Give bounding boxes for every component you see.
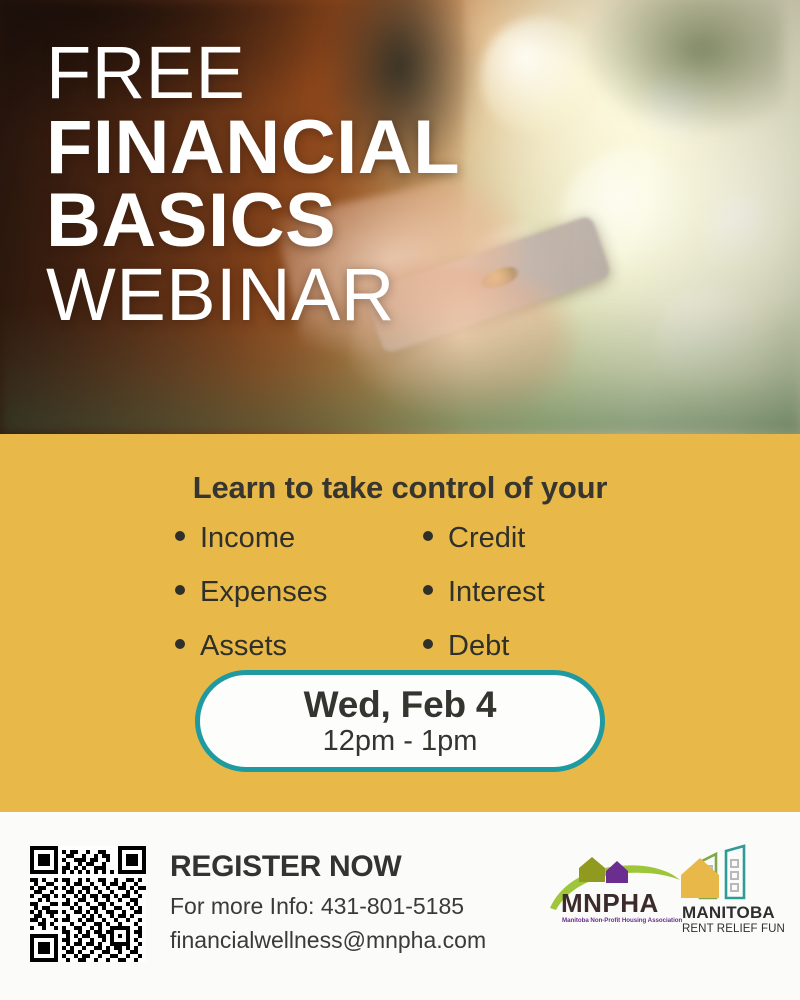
bullet-dot-icon <box>175 639 185 649</box>
headline-line-basics: BASICS <box>46 185 460 256</box>
rent-relief-logo: MANITOBA RENT RELIEF FUND <box>681 846 784 935</box>
svg-text:MNPHA: MNPHA <box>561 888 659 918</box>
register-title: REGISTER NOW <box>170 850 486 883</box>
svg-text:MANITOBA: MANITOBA <box>682 903 775 922</box>
topic-label: Interest <box>448 576 545 609</box>
footer-section: REGISTER NOW For more Info: 431-801-5185… <box>0 812 800 1000</box>
headline: FREE FINANCIAL BASICS WEBINAR <box>46 38 460 330</box>
topic-label: Expenses <box>200 576 327 609</box>
list-item: Assets <box>175 630 423 663</box>
list-item: Interest <box>423 576 645 609</box>
list-item: Income <box>175 522 423 555</box>
qr-code-icon[interactable] <box>30 846 146 962</box>
headline-line-free: FREE <box>46 38 460 108</box>
topic-label: Debt <box>448 630 509 663</box>
list-item: Credit <box>423 522 645 555</box>
topic-label: Credit <box>448 522 525 555</box>
hero-section: FREE FINANCIAL BASICS WEBINAR <box>0 0 800 434</box>
svg-text:RENT RELIEF FUND: RENT RELIEF FUND <box>682 923 784 935</box>
svg-text:Manitoba Non-Profit Housing As: Manitoba Non-Profit Housing Association <box>562 917 682 924</box>
topics-list: Income Credit Expenses Interest Assets D… <box>175 522 645 663</box>
bullet-dot-icon <box>175 531 185 541</box>
bullet-dot-icon <box>423 639 433 649</box>
register-block: REGISTER NOW For more Info: 431-801-5185… <box>170 850 486 956</box>
topic-label: Assets <box>200 630 287 663</box>
headline-line-financial: FINANCIAL <box>46 112 460 183</box>
event-date-badge: Wed, Feb 4 12pm - 1pm <box>195 670 605 772</box>
contact-phone-line: For more Info: 431-801-5185 <box>170 890 486 923</box>
event-date: Wed, Feb 4 <box>304 685 497 724</box>
gold-section: Learn to take control of your Income Cre… <box>0 434 800 812</box>
bullet-dot-icon <box>423 585 433 595</box>
list-item: Expenses <box>175 576 423 609</box>
logo-group: MNPHA Manitoba Non-Profit Housing Associ… <box>548 842 784 940</box>
bullet-dot-icon <box>423 531 433 541</box>
contact-email-line[interactable]: financialwellness@mnpha.com <box>170 924 486 957</box>
headline-line-webinar: WEBINAR <box>46 260 460 330</box>
list-item: Debt <box>423 630 645 663</box>
topic-label: Income <box>200 522 295 555</box>
event-time: 12pm - 1pm <box>323 725 478 757</box>
mnpha-logo: MNPHA Manitoba Non-Profit Housing Associ… <box>550 857 682 924</box>
learn-heading: Learn to take control of your <box>0 470 800 506</box>
bullet-dot-icon <box>175 585 185 595</box>
poster-root: FREE FINANCIAL BASICS WEBINAR Learn to t… <box>0 0 800 1000</box>
